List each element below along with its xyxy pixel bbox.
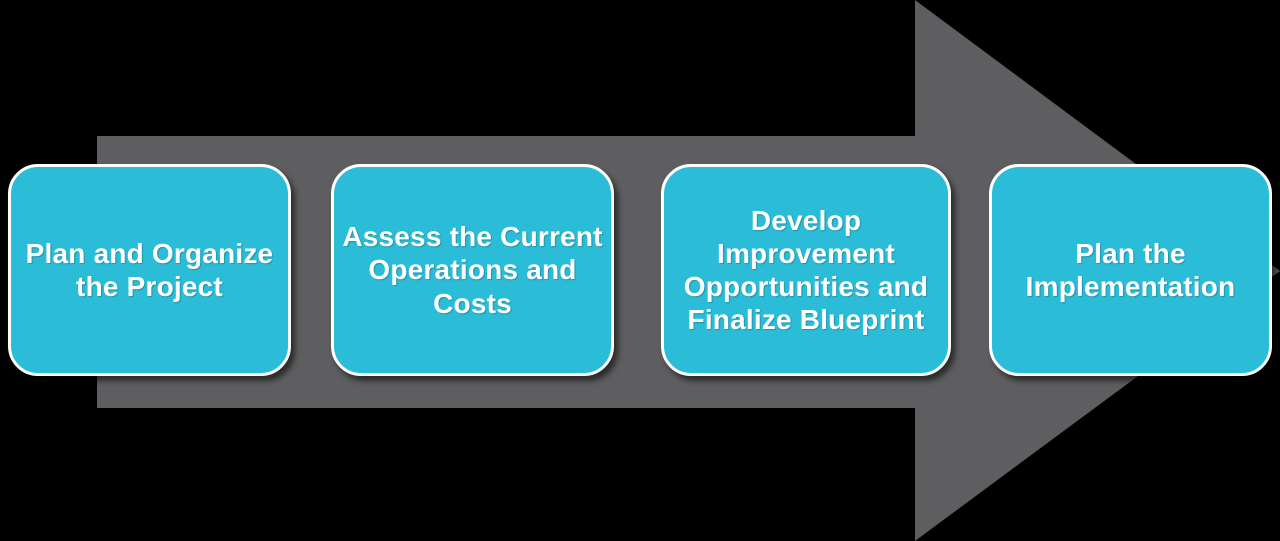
step-label-1: Plan and Organize the Project — [11, 237, 288, 303]
diagram-canvas: Plan and Organize the Project Assess the… — [0, 0, 1280, 541]
step-box-1[interactable]: Plan and Organize the Project — [8, 164, 291, 376]
step-box-3[interactable]: Develop Improvement Opportunities and Fi… — [661, 164, 951, 376]
step-box-4[interactable]: Plan the Implementation — [989, 164, 1272, 376]
step-box-2[interactable]: Assess the Current Operations and Costs — [331, 164, 614, 376]
step-box-list: Plan and Organize the Project Assess the… — [0, 0, 1280, 541]
step-label-2: Assess the Current Operations and Costs — [334, 220, 611, 319]
step-label-3: Develop Improvement Opportunities and Fi… — [664, 204, 948, 336]
step-label-4: Plan the Implementation — [992, 237, 1269, 303]
